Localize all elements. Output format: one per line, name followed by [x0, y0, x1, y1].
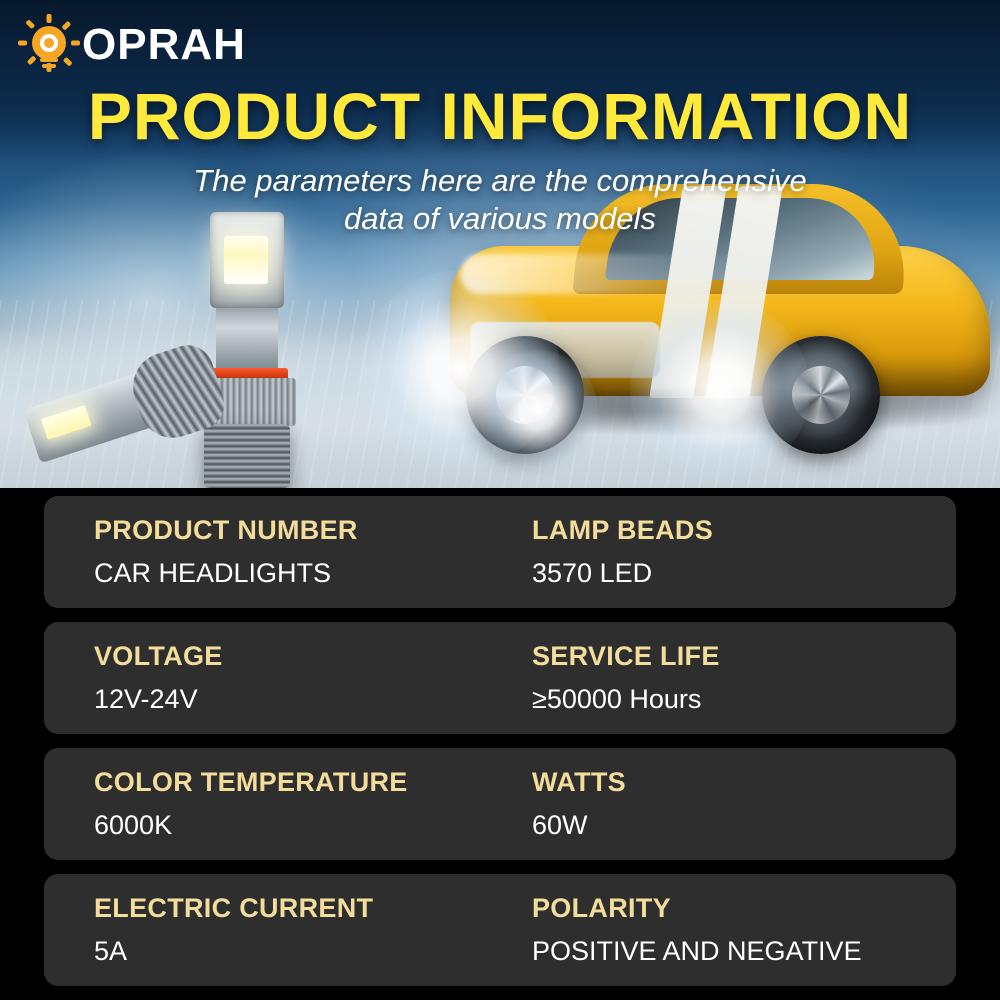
spec-value: 5A [94, 935, 500, 967]
spec-label: LAMP BEADS [532, 514, 956, 548]
hero-banner: OPRAH PRODUCT INFORMATION The parameters… [0, 0, 1000, 492]
spec-value: 3570 LED [532, 557, 956, 589]
spec-row: COLOR TEMPERATURE 6000K WATTS 60W [44, 748, 956, 860]
car-headlamp-beam-3 [478, 350, 598, 470]
spec-cell-voltage: VOLTAGE 12V-24V [44, 640, 500, 734]
spec-value: POSITIVE AND NEGATIVE [532, 935, 956, 967]
spec-row: PRODUCT NUMBER CAR HEADLIGHTS LAMP BEADS… [44, 496, 956, 608]
page-subtitle-line-1: The parameters here are the comprehensiv… [120, 162, 880, 200]
product-information-page: OPRAH PRODUCT INFORMATION The parameters… [0, 0, 1000, 1000]
brand-name: OPRAH [82, 20, 246, 70]
spec-label: VOLTAGE [94, 640, 500, 674]
spec-value: 60W [532, 809, 956, 841]
spec-row: VOLTAGE 12V-24V SERVICE LIFE ≥50000 Hour… [44, 622, 956, 734]
spec-row: ELECTRIC CURRENT 5A POLARITY POSITIVE AN… [44, 874, 956, 986]
spec-label: POLARITY [532, 892, 956, 926]
spec-value: CAR HEADLIGHTS [94, 557, 500, 589]
spec-cell-electric-current: ELECTRIC CURRENT 5A [44, 892, 500, 986]
bulb-neck [216, 308, 278, 372]
spec-value: 12V-24V [94, 683, 500, 715]
bulb-led-chip [224, 236, 268, 284]
spec-cell-product-number: PRODUCT NUMBER CAR HEADLIGHTS [44, 514, 500, 608]
spec-cell-watts: WATTS 60W [500, 766, 956, 860]
spec-cell-color-temperature: COLOR TEMPERATURE 6000K [44, 766, 500, 860]
spec-label: WATTS [532, 766, 956, 800]
spec-label: ELECTRIC CURRENT [94, 892, 500, 926]
spec-cell-service-life: SERVICE LIFE ≥50000 Hours [500, 640, 956, 734]
car-headlamp-beam-2 [630, 300, 810, 480]
spec-label: SERVICE LIFE [532, 640, 956, 674]
spec-label: COLOR TEMPERATURE [94, 766, 500, 800]
spec-value: 6000K [94, 809, 500, 841]
spec-cell-polarity: POLARITY POSITIVE AND NEGATIVE [500, 892, 956, 986]
spec-value: ≥50000 Hours [532, 683, 956, 715]
brand-logo[interactable]: OPRAH [18, 12, 278, 76]
sun-gear-icon [18, 14, 80, 76]
spec-label: PRODUCT NUMBER [94, 514, 500, 548]
page-title: PRODUCT INFORMATION [0, 78, 1000, 154]
specifications-panel: PRODUCT NUMBER CAR HEADLIGHTS LAMP BEADS… [0, 488, 1000, 1000]
page-subtitle: The parameters here are the comprehensiv… [120, 162, 880, 238]
page-subtitle-line-2: data of various models [120, 200, 880, 238]
spec-cell-lamp-beads: LAMP BEADS 3570 LED [500, 514, 956, 608]
